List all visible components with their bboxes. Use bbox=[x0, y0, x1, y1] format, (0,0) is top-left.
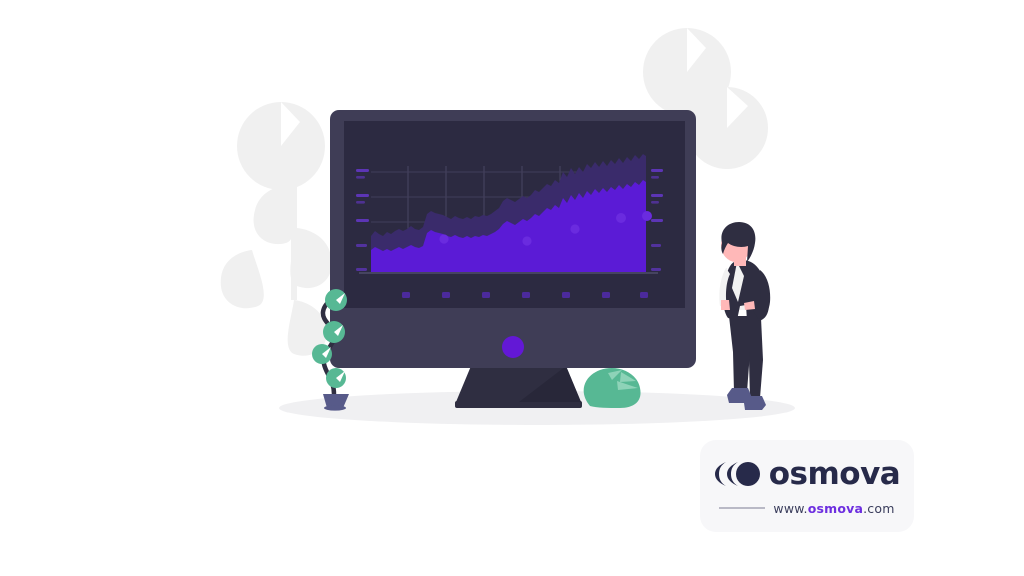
monitor-power-button[interactable] bbox=[502, 336, 524, 358]
man-back-leg bbox=[749, 318, 763, 398]
osmova-url: www.osmova.com bbox=[773, 501, 894, 516]
logo-divider-rule bbox=[719, 507, 765, 509]
man-front-leg bbox=[729, 316, 750, 392]
url-www: www. bbox=[773, 501, 807, 516]
desktop-monitor bbox=[330, 110, 696, 408]
osmova-mark-icon bbox=[714, 459, 760, 489]
logo-row: osmova bbox=[714, 459, 900, 490]
illustration-canvas: osmova www.osmova.com bbox=[0, 0, 1024, 576]
osmova-logo-badge: osmova www.osmova.com bbox=[700, 440, 914, 532]
url-tld: .com bbox=[863, 501, 894, 516]
logo-url-row: www.osmova.com bbox=[719, 501, 894, 516]
man-front-shoe bbox=[727, 388, 752, 403]
osmova-wordmark: osmova bbox=[769, 459, 900, 490]
url-brand: osmova bbox=[808, 501, 863, 516]
background-plant-left bbox=[221, 102, 332, 356]
green-rock bbox=[584, 368, 641, 408]
standing-man bbox=[719, 222, 770, 410]
monitor-stand-base bbox=[455, 401, 582, 408]
